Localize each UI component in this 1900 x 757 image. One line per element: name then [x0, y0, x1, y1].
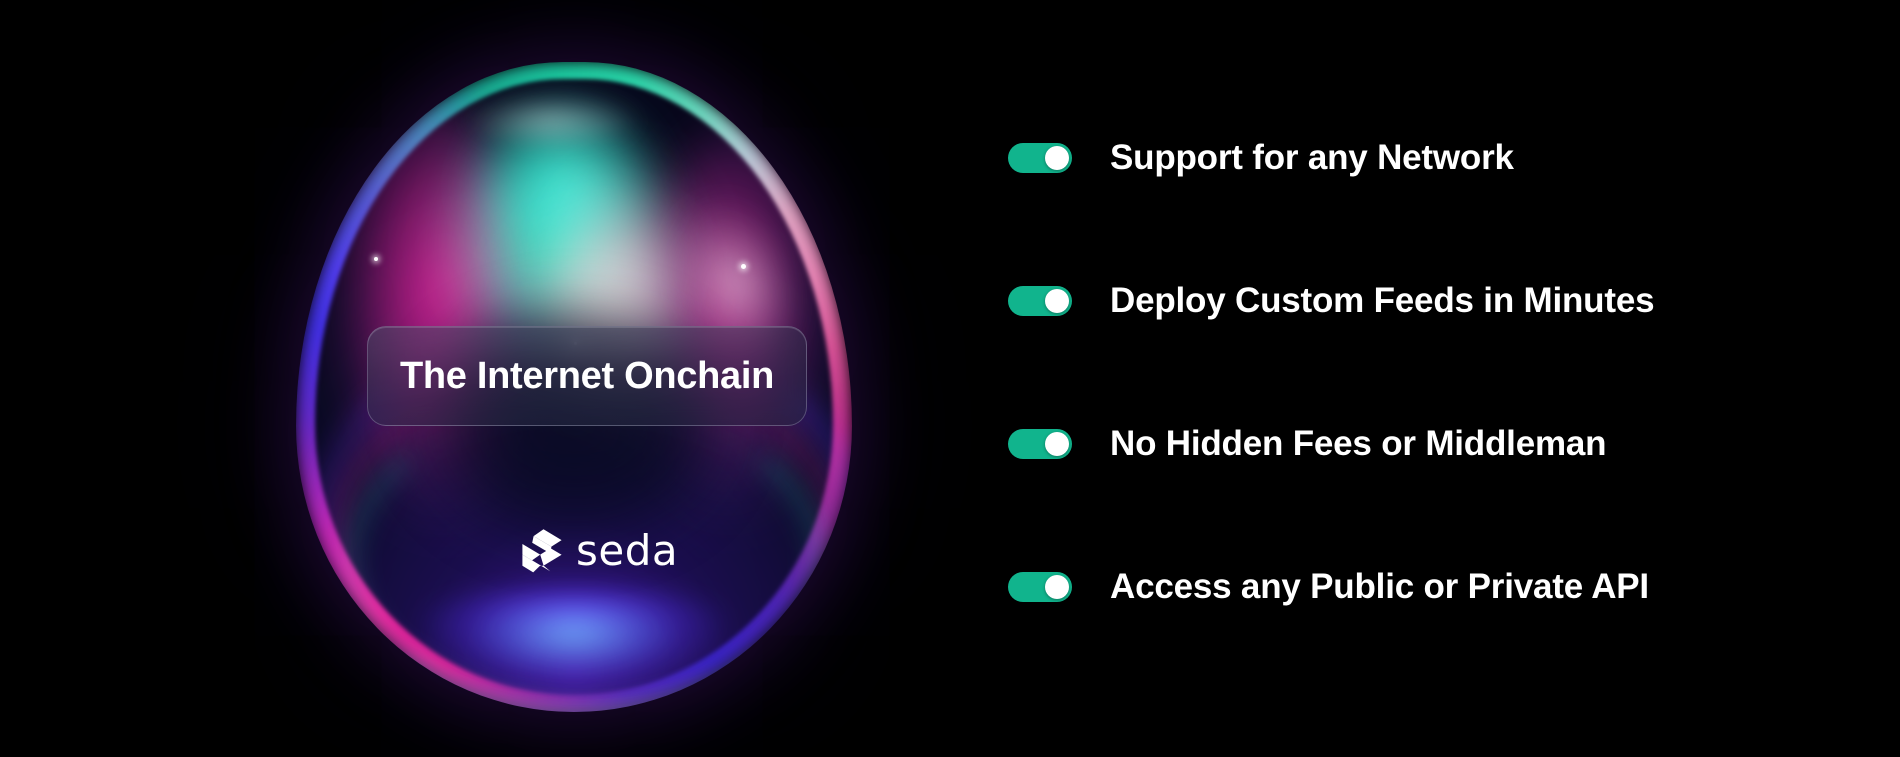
toggle-no-hidden-fees[interactable]: [1008, 429, 1072, 459]
toggle-knob-icon: [1045, 575, 1069, 599]
feature-row-deploy-feeds: Deploy Custom Feeds in Minutes: [1008, 247, 1728, 355]
orb-sparkle: [374, 257, 378, 261]
glass-title-card: The Internet Onchain: [367, 326, 807, 426]
feature-row-no-hidden-fees: No Hidden Fees or Middleman: [1008, 390, 1728, 498]
feature-row-support-network: Support for any Network: [1008, 104, 1728, 212]
feature-label-no-hidden-fees: No Hidden Fees or Middleman: [1110, 425, 1606, 464]
hero-title: The Internet Onchain: [400, 357, 774, 395]
feature-list: Support for any Network Deploy Custom Fe…: [1008, 104, 1728, 641]
toggle-support-network[interactable]: [1008, 143, 1072, 173]
toggle-knob-icon: [1045, 432, 1069, 456]
orb-top-sheen: [429, 82, 674, 160]
feature-row-access-api: Access any Public or Private API: [1008, 533, 1728, 641]
toggle-access-api[interactable]: [1008, 572, 1072, 602]
seda-wordmark: seda: [576, 530, 678, 572]
toggle-deploy-feeds[interactable]: [1008, 286, 1072, 316]
toggle-knob-icon: [1045, 289, 1069, 313]
hero-banner: The Internet Onchain seda Support for an…: [0, 0, 1900, 757]
feature-label-deploy-feeds: Deploy Custom Feeds in Minutes: [1110, 282, 1654, 321]
feature-label-access-api: Access any Public or Private API: [1110, 568, 1649, 607]
orb-arc-blue-bottom: [363, 589, 786, 713]
feature-label-support-network: Support for any Network: [1110, 139, 1514, 178]
orb-sparkle: [741, 264, 746, 269]
seda-logo: seda: [521, 528, 678, 574]
toggle-knob-icon: [1045, 146, 1069, 170]
seda-logo-mark-icon: [521, 528, 563, 574]
